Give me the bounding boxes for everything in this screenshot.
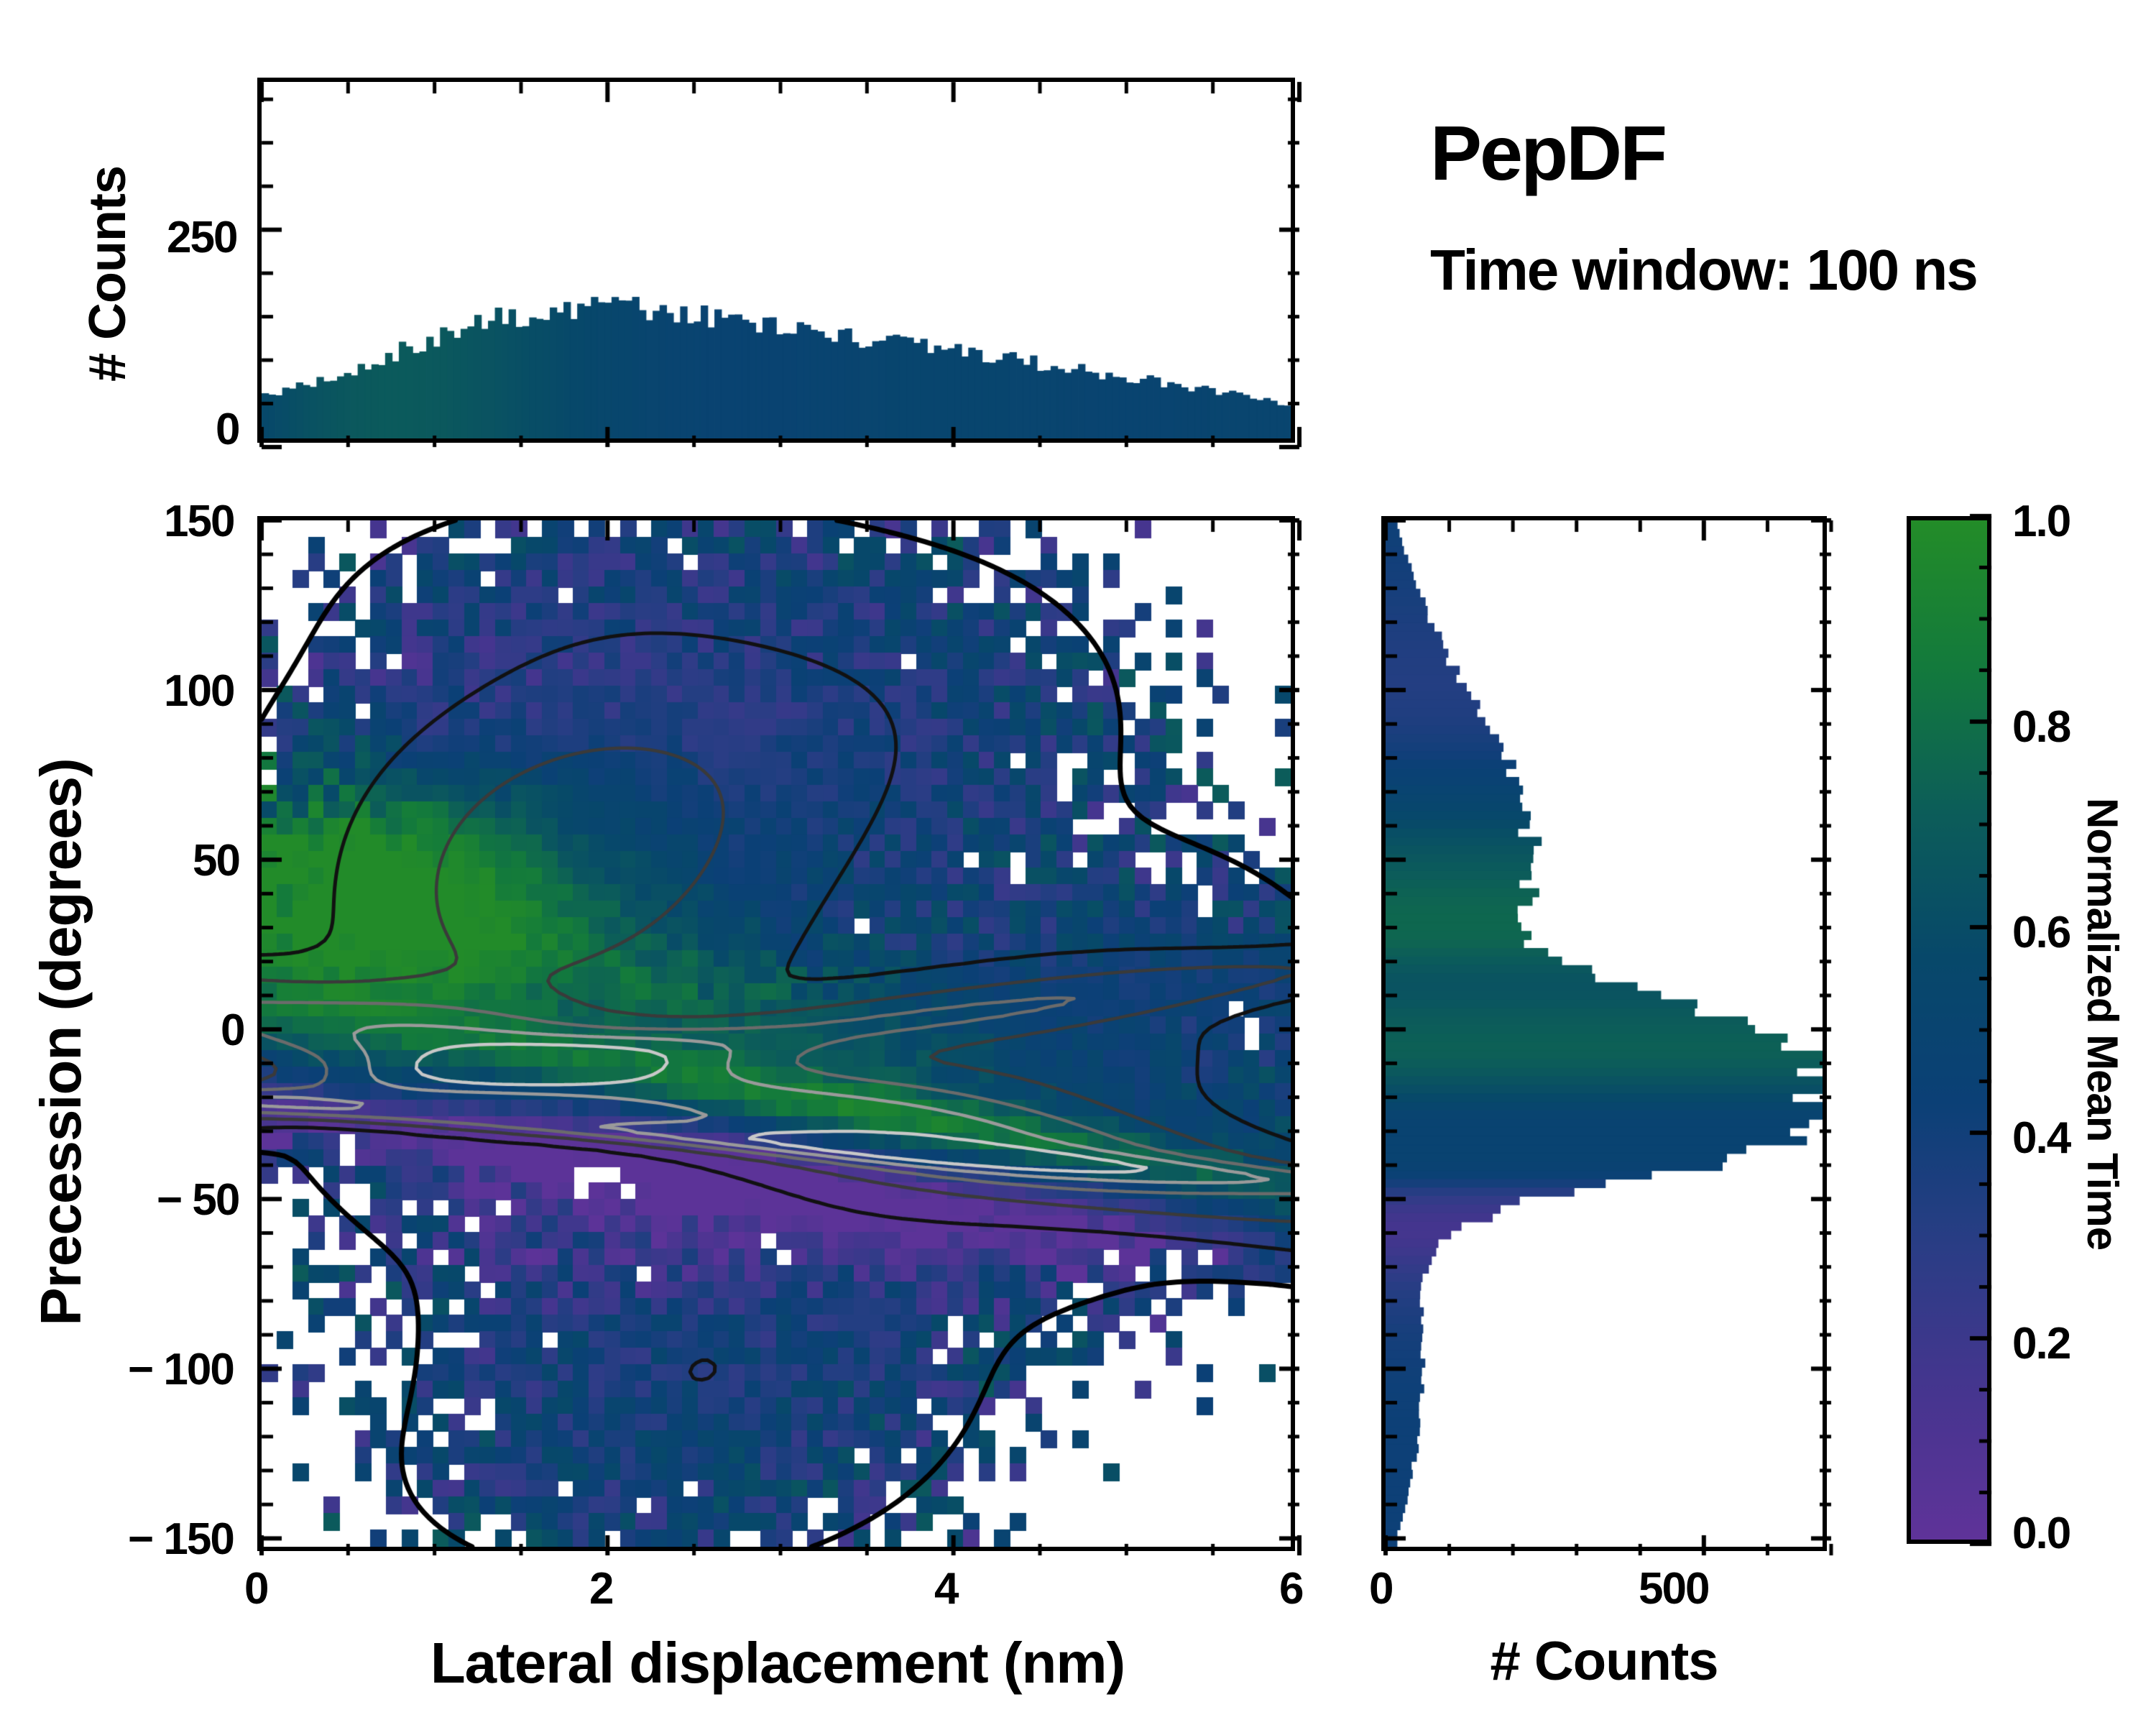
main-ytick-150: 150: [164, 496, 234, 547]
main-xtick-0: 0: [244, 1563, 267, 1614]
colorbar-label: Normalized Mean Time: [2078, 798, 2127, 1250]
figure-subtitle: Time window: 100 ns: [1430, 237, 1977, 303]
main-xlabel: Lateral displacement (nm): [259, 1630, 1296, 1696]
colorbar-tick-0.2: 0.2: [2012, 1318, 2070, 1369]
main-ylabel: Precession (degrees): [28, 647, 94, 1437]
colorbar-tick-0.4: 0.4: [2012, 1113, 2070, 1164]
main-ytick-50: 50: [193, 835, 239, 886]
top-ytick-250: 250: [167, 212, 236, 263]
top-histogram-ticks: [253, 73, 1302, 461]
main-ytick-neg100: − 100: [128, 1344, 234, 1395]
right-xlabel: # Counts: [1381, 1630, 1827, 1693]
figure-title: PepDF: [1430, 108, 1665, 198]
top-ylabel: # Counts: [78, 123, 137, 425]
main-axis-ticks: [253, 512, 1309, 1568]
main-xtick-2: 2: [589, 1563, 612, 1614]
colorbar-tick-0.0: 0.0: [2012, 1508, 2070, 1559]
main-ytick-neg50: − 50: [157, 1174, 239, 1225]
right-xtick-500: 500: [1639, 1563, 1708, 1614]
main-xtick-4: 4: [934, 1563, 957, 1614]
colorbar-tick-1.0: 1.0: [2012, 496, 2070, 547]
main-ytick-0: 0: [221, 1005, 244, 1056]
right-xtick-0: 0: [1369, 1563, 1392, 1614]
right-histogram-ticks: [1377, 512, 1844, 1568]
colorbar-tick-0.8: 0.8: [2012, 701, 2070, 753]
main-ytick-neg150: − 150: [128, 1514, 234, 1565]
main-xtick-6: 6: [1279, 1563, 1302, 1614]
colorbar-tick-0.6: 0.6: [2012, 907, 2070, 958]
top-ytick-0: 0: [216, 404, 239, 455]
colorbar-ticks: [1940, 512, 1998, 1568]
figure-root: 250 0 # Counts 150 100 50 0 − 50 − 100 −…: [0, 0, 2156, 1725]
main-ytick-100: 100: [164, 666, 234, 717]
